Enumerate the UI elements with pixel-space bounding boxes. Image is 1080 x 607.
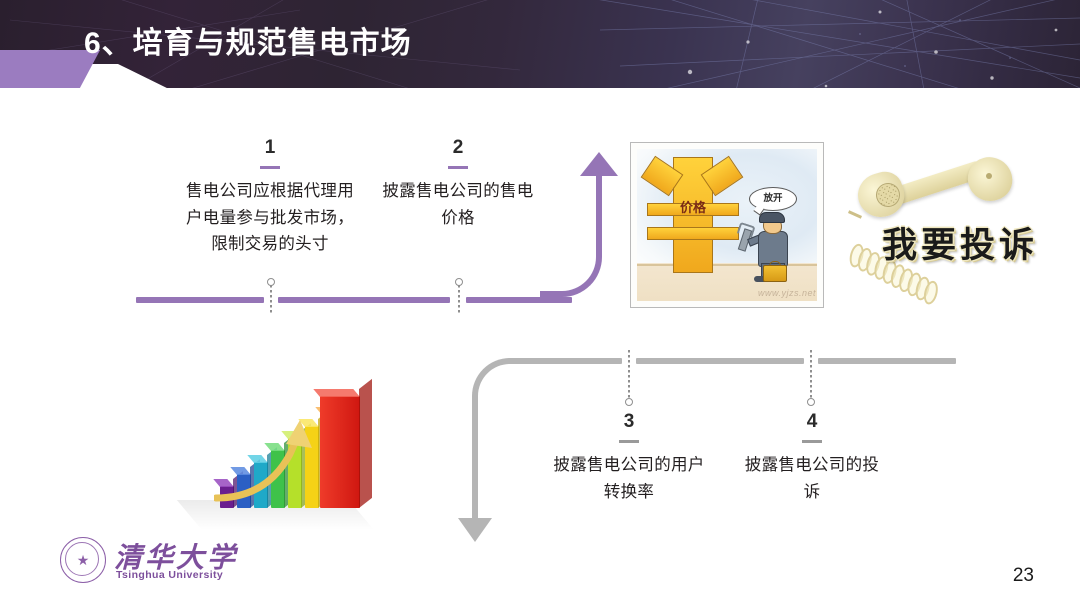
step-text-2: 披露售电公司的售电价格 [378, 178, 538, 231]
seal-star-icon: ★ [76, 553, 90, 567]
step-number-2: 2 [378, 138, 538, 159]
page-number: 23 [1013, 565, 1034, 587]
purple-timeline-riser [596, 170, 602, 242]
purple-segment-2 [278, 297, 450, 303]
step-item-1: 1 售电公司应根据代理用户电量参与批发市场，限制交易的头寸 [186, 138, 354, 258]
step-text-1: 售电公司应根据代理用户电量参与批发市场，限制交易的头寸 [186, 178, 354, 258]
connector-line-3 [628, 350, 630, 402]
purple-arrow-head-icon [580, 152, 618, 176]
step-text-3: 披露售电公司的用户转换率 [546, 452, 712, 505]
step-dash-3 [619, 440, 639, 443]
yen-symbol-icon: 价格 [645, 157, 741, 273]
step-item-4: 4 披露售电公司的投诉 [738, 412, 886, 505]
connector-line-4 [810, 350, 812, 402]
tsinghua-seal-icon: ★ [60, 537, 106, 583]
step-number-4: 4 [738, 412, 886, 433]
gray-segment-2 [636, 358, 804, 364]
connector-dot-3 [625, 398, 633, 406]
connector-line-1 [270, 285, 272, 313]
gray-timeline-corner [472, 358, 530, 416]
purple-segment-1 [136, 297, 264, 303]
cartoon-watermark: www.yjzs.net [758, 288, 816, 298]
step-number-3: 3 [546, 412, 712, 433]
telephone-complaint-image: 我要投诉 [846, 145, 1062, 310]
gray-arrow-head-icon [458, 518, 492, 542]
worker-figure-icon [749, 209, 805, 285]
tsinghua-logo: ★ 清华大学 Tsinghua University [60, 533, 230, 589]
step-item-3: 3 披露售电公司的用户转换率 [546, 412, 712, 505]
growth-arrow-icon [214, 418, 334, 504]
growth-chart-image [196, 388, 380, 536]
complaint-headline: 我要投诉 [882, 217, 1038, 268]
logo-english-name: Tsinghua University [116, 569, 223, 581]
step-dash-1 [260, 166, 280, 169]
connector-dot-4 [807, 398, 815, 406]
page-title: 6、培育与规范售电市场 [84, 18, 412, 62]
step-dash-2 [448, 166, 468, 169]
gray-segment-3 [818, 358, 956, 364]
step-item-2: 2 披露售电公司的售电价格 [378, 138, 538, 231]
price-liberalization-image: 价格 放开 www.yjzs.net [630, 142, 824, 308]
gray-segment-1 [528, 358, 622, 364]
slide: 6、培育与规范售电市场 1 售电公司应根据代理用户电量参与批发市场，限制交易的头… [0, 0, 1080, 607]
connector-dot-1 [267, 278, 275, 286]
connector-line-2 [458, 285, 460, 313]
purple-timeline-corner [540, 235, 602, 297]
connector-dot-2 [455, 278, 463, 286]
step-text-4: 披露售电公司的投诉 [738, 452, 886, 505]
step-dash-4 [802, 440, 822, 443]
purple-segment-3 [466, 297, 572, 303]
telephone-handset-icon [860, 151, 1012, 215]
yen-price-label: 价格 [671, 201, 715, 215]
step-number-1: 1 [186, 138, 354, 159]
gray-timeline-drop [472, 410, 478, 520]
